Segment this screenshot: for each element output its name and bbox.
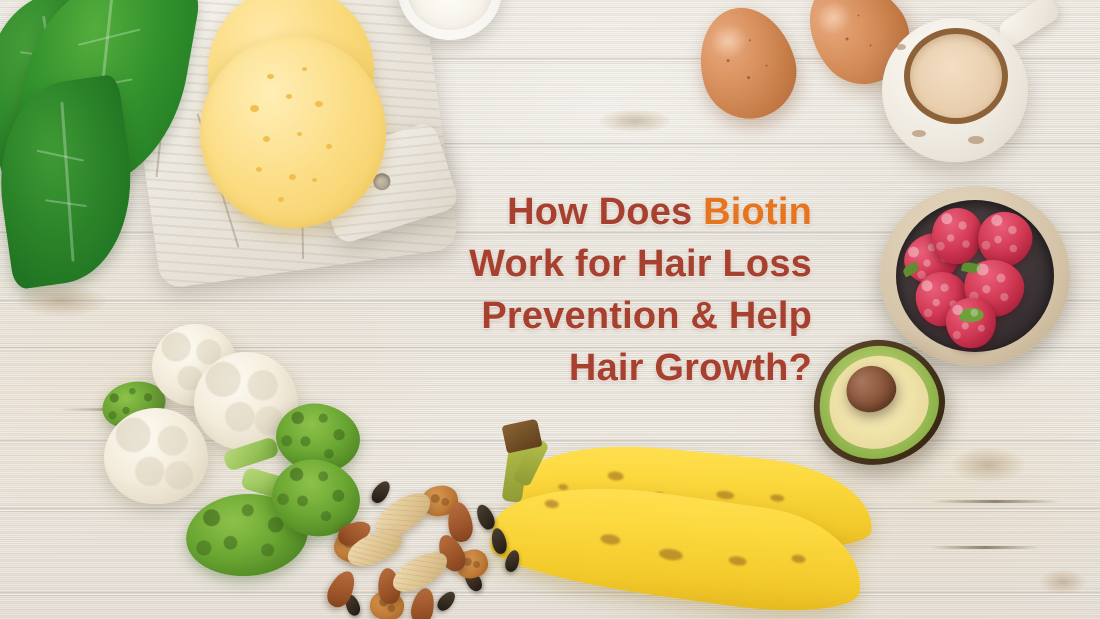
seed: [503, 549, 522, 574]
egg-speck: [726, 59, 730, 63]
egg-speck: [748, 39, 750, 41]
cheese-hole: [250, 105, 259, 112]
almond: [408, 586, 437, 619]
wood-knot: [1040, 570, 1086, 594]
pitcher-glaze-spot: [896, 44, 906, 50]
seed: [489, 527, 508, 555]
leaf-vein: [36, 150, 83, 162]
pitcher-glaze-spot: [912, 130, 926, 137]
seed: [473, 502, 497, 532]
egg-speck: [747, 76, 751, 80]
wood-streak: [930, 546, 1040, 549]
cheese-hole: [297, 132, 302, 136]
cheese-slice-front: [200, 36, 386, 228]
strawberry-bowl: [880, 186, 1070, 366]
banana-spot: [658, 547, 683, 561]
banana-spot: [607, 471, 624, 482]
egg-speck: [869, 44, 872, 47]
wood-knot: [952, 448, 1024, 482]
strawberry-calyx: [901, 261, 920, 277]
wood-streak: [930, 500, 1060, 503]
banana-spot: [770, 494, 785, 502]
cheese-hole: [256, 167, 262, 172]
spinach-leaves: [0, 0, 220, 290]
banana-spot: [728, 555, 747, 566]
banana-spot: [716, 490, 735, 500]
milk-pitcher: [880, 4, 1090, 164]
cheese-hole: [267, 74, 274, 79]
cheese-hole: [286, 94, 292, 99]
cheese-hole: [326, 144, 332, 149]
egg-speck: [857, 14, 860, 17]
wood-knot: [18, 286, 106, 316]
cheese-hole: [315, 101, 323, 107]
cheese-hole: [302, 67, 307, 71]
egg-speck: [765, 64, 767, 66]
cheese-hole: [312, 178, 317, 182]
strawberry-calyx: [959, 307, 984, 323]
pitcher-glaze-spot: [968, 136, 984, 144]
cheese-hole: [289, 174, 296, 180]
leaf-vein: [60, 102, 74, 262]
cheese-hole: [278, 197, 284, 202]
pitcher-rim-with-milk: [904, 28, 1008, 124]
banana-spot: [791, 554, 806, 564]
mixed-nuts: [316, 472, 542, 619]
yogurt-contents: [407, 0, 493, 30]
hero-banner: How Does Biotin Work for Hair Loss Preve…: [0, 0, 1100, 619]
cheese-hole: [263, 136, 270, 142]
wood-knot: [600, 110, 670, 132]
cauliflower-floret: [104, 408, 208, 504]
banana-spot: [600, 533, 621, 546]
egg-speck: [845, 36, 849, 40]
seed: [368, 478, 393, 506]
seed: [434, 588, 458, 613]
banana-spot: [544, 499, 559, 509]
